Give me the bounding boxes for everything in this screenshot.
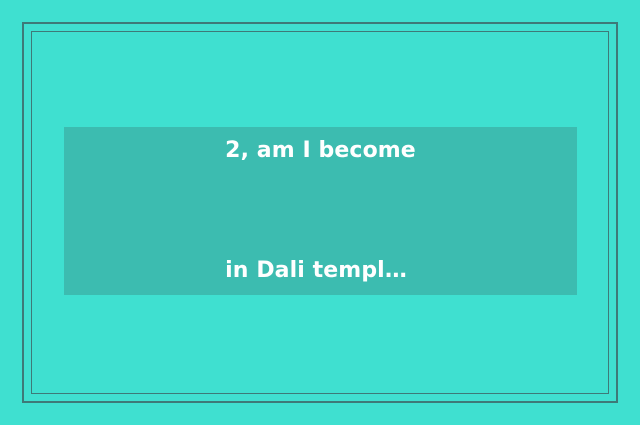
caption-banner: 2, am I become in Dali templ… bbox=[64, 127, 577, 295]
caption-line-2: in Dali templ… bbox=[225, 251, 416, 291]
caption-line-1: 2, am I become bbox=[225, 131, 416, 171]
caption-text-block: 2, am I become in Dali templ… bbox=[225, 51, 416, 371]
image-card: 2, am I become in Dali templ… bbox=[0, 0, 640, 425]
